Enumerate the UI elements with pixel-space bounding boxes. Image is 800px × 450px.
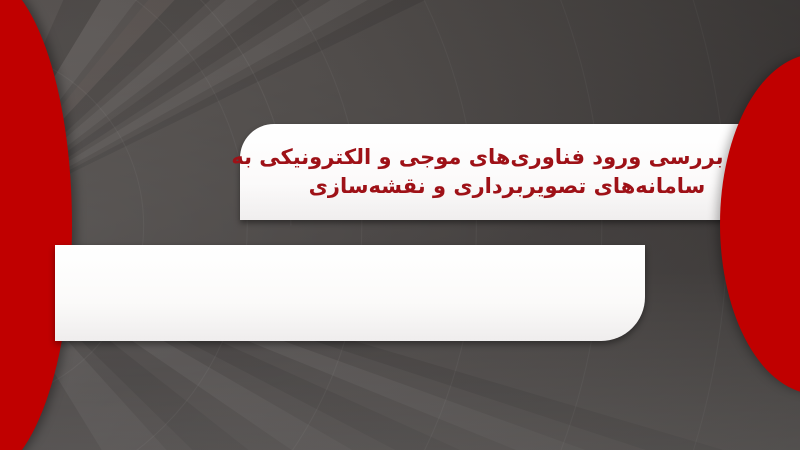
background-ray-pattern — [0, 0, 800, 450]
slide-title-line-2: سامانه‌های تصویربرداری و نقشه‌سازی — [309, 172, 706, 201]
slide-title-line-1: کامل بررسی ورود فناوری‌های موجی و الکترو… — [231, 143, 782, 172]
content-plate — [55, 245, 645, 341]
slide-title: کامل بررسی ورود فناوری‌های موجی و الکترو… — [240, 124, 800, 220]
slide-canvas: کامل بررسی ورود فناوری‌های موجی و الکترو… — [0, 0, 800, 450]
title-plate: کامل بررسی ورود فناوری‌های موجی و الکترو… — [240, 124, 800, 220]
content-body-text — [55, 245, 645, 341]
